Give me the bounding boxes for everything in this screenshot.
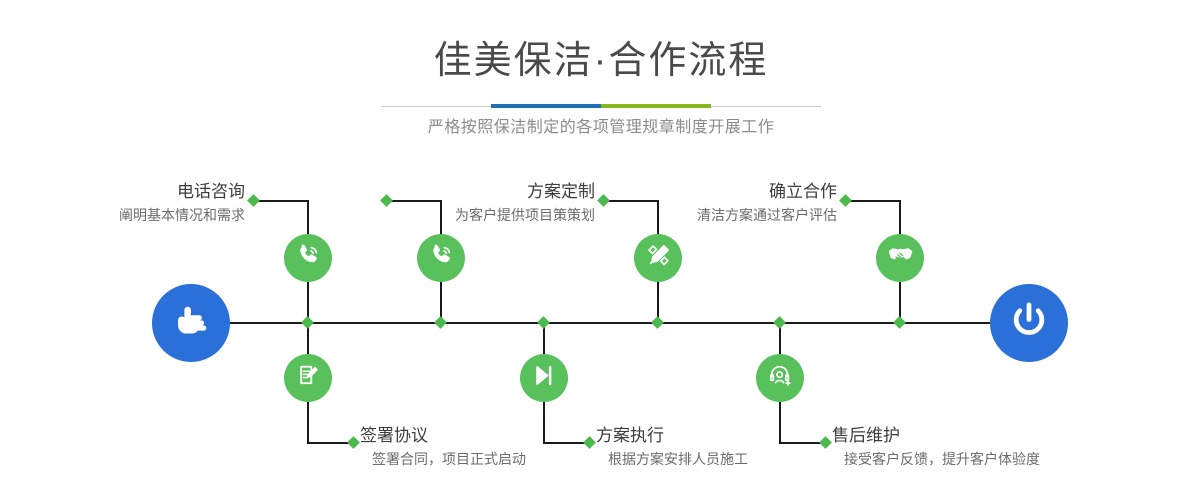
- flow-start-endpoint: [152, 284, 230, 362]
- page-subtitle: 严格按照保洁制定的各项管理规章制度开展工作: [0, 120, 1202, 136]
- step-icon-1[interactable]: [284, 234, 332, 282]
- step-label-3: 方案定制 为客户提供项目策策划: [380, 182, 595, 224]
- divider-green-segment: [601, 104, 711, 108]
- step-icon-4[interactable]: [634, 234, 682, 282]
- axis-marker-6: [773, 316, 786, 329]
- step-desc-1: 阐明基本情况和需求: [20, 206, 245, 224]
- power-icon: [1007, 299, 1051, 348]
- step-desc-4: 根据方案安排人员施工: [608, 450, 748, 468]
- step-label-4: 方案执行 根据方案安排人员施工: [596, 426, 748, 468]
- step-label-5: 确立合作 清洁方案通过客户评估: [615, 182, 837, 224]
- step-label-2: 签署协议 签署合同，项目正式启动: [360, 426, 526, 468]
- step-icon-7[interactable]: [756, 354, 804, 402]
- connector-arm-1: [253, 200, 309, 202]
- step-label-1: 电话咨询 阐明基本情况和需求: [20, 182, 245, 224]
- step-title-2: 签署协议: [360, 426, 526, 446]
- pointing-hand-icon: [169, 299, 213, 348]
- connector-arm-6: [845, 200, 901, 202]
- play-execute-icon: [531, 362, 558, 394]
- sign-document-icon: [295, 362, 322, 394]
- step-title-6: 售后维护: [832, 426, 1040, 446]
- title-divider: [381, 104, 821, 108]
- customer-service-icon: [767, 362, 794, 394]
- step-icon-5[interactable]: [520, 354, 568, 402]
- process-flow-diagram: 电话咨询 阐明基本情况和需求 签署协议 签署合同，项目正式启动: [0, 150, 1202, 502]
- label-marker-7: [819, 436, 832, 449]
- step-title-3: 方案定制: [380, 182, 595, 202]
- axis-marker-1: [301, 316, 314, 329]
- label-marker-4: [597, 194, 610, 207]
- step-title-5: 确立合作: [615, 182, 837, 202]
- step-desc-5: 清洁方案通过客户评估: [615, 206, 837, 224]
- step-desc-6: 接受客户反馈，提升客户体验度: [844, 450, 1040, 468]
- axis-marker-5: [893, 316, 906, 329]
- axis-marker-4: [537, 316, 550, 329]
- step-icon-3[interactable]: [417, 234, 465, 282]
- step-desc-2: 签署合同，项目正式启动: [372, 450, 526, 468]
- label-marker-2: [347, 436, 360, 449]
- pencil-ruler-icon: [645, 242, 672, 274]
- phone-call-icon: [295, 242, 322, 274]
- step-desc-3: 为客户提供项目策策划: [380, 206, 595, 224]
- label-marker-1: [247, 194, 260, 207]
- axis-marker-2: [434, 316, 447, 329]
- label-marker-6: [839, 194, 852, 207]
- axis-marker-3: [651, 316, 664, 329]
- label-marker-5: [583, 436, 596, 449]
- divider-blue-segment: [491, 104, 601, 108]
- step-title-1: 电话咨询: [20, 182, 245, 202]
- page-title: 佳美保洁·合作流程: [0, 42, 1202, 80]
- step-title-4: 方案执行: [596, 426, 748, 446]
- step-icon-2[interactable]: [284, 354, 332, 402]
- handshake-icon: [887, 242, 914, 274]
- phone-call-icon: [428, 242, 455, 274]
- flow-end-endpoint: [990, 284, 1068, 362]
- page-header: 佳美保洁·合作流程 严格按照保洁制定的各项管理规章制度开展工作: [0, 0, 1202, 136]
- step-label-6: 售后维护 接受客户反馈，提升客户体验度: [832, 426, 1040, 468]
- step-icon-6[interactable]: [876, 234, 924, 282]
